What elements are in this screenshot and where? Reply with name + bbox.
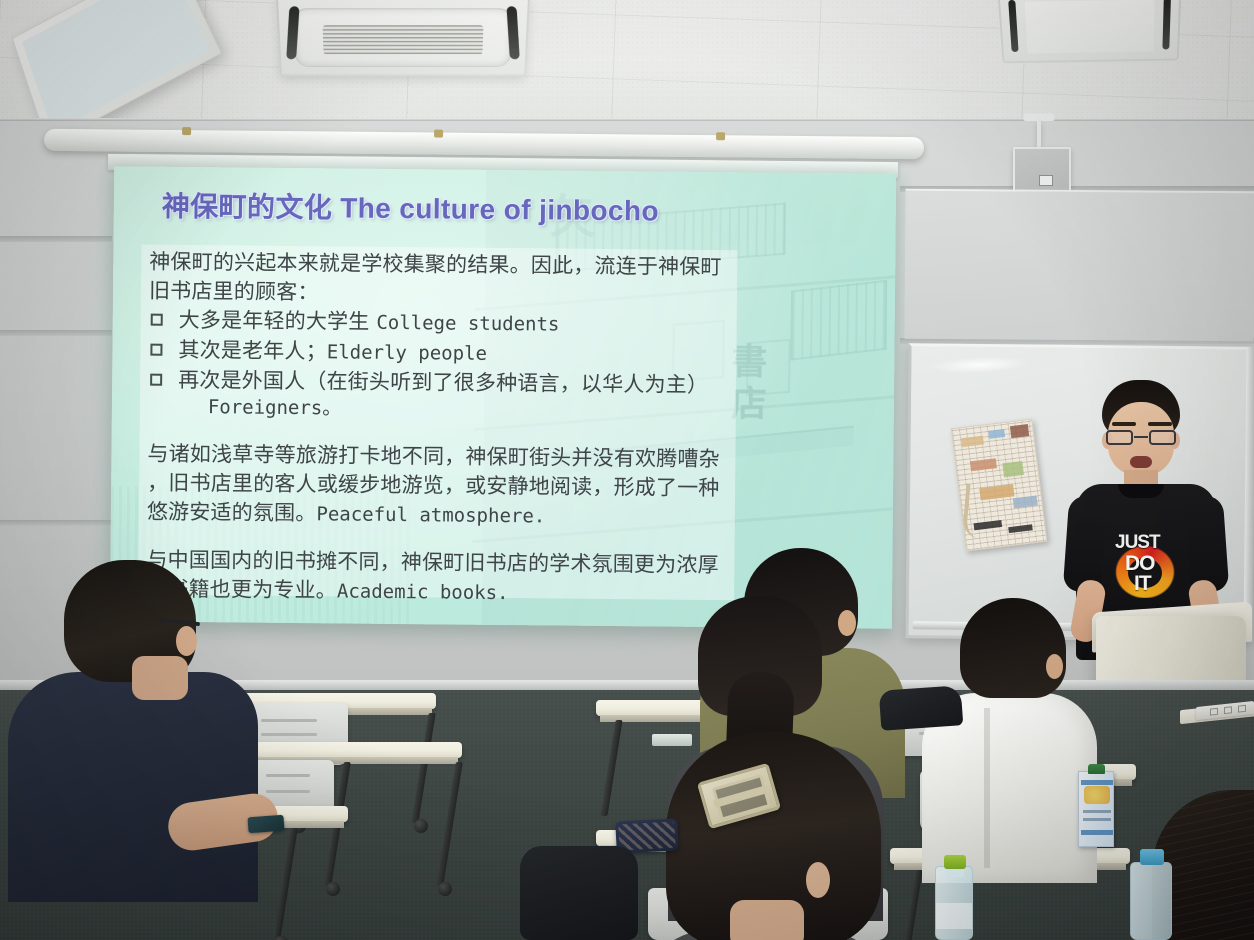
power-socket[interactable] — [1210, 708, 1218, 716]
slide-bullet-item: 其次是老年人；Elderly people — [148, 337, 748, 371]
person-hair — [960, 598, 1066, 698]
slide-para2-line-3-cn: 悠游安适的氛围。 — [147, 500, 317, 526]
presenter-mouth — [1130, 456, 1152, 468]
glasses-lens-left — [1106, 430, 1133, 445]
person-neck — [730, 900, 804, 940]
bullet-1-cn: 大多是年轻的大学生 — [179, 308, 370, 334]
ac-inner-panel — [293, 8, 514, 67]
presenter-sleeve-right — [1185, 495, 1230, 593]
glasses-lens-right — [1149, 430, 1176, 445]
water-bottle-green-cap — [935, 866, 973, 940]
bullet-3-en: Foreigners。 — [178, 394, 748, 426]
tshirt-text-just: JUST — [1115, 532, 1160, 554]
bullet-2-en: Elderly people — [327, 341, 487, 365]
roller-bracket-3 — [716, 132, 725, 140]
bottle-label — [936, 903, 972, 929]
carton-cap-green — [1088, 764, 1105, 774]
map-blob — [1002, 461, 1024, 477]
slide-para2-line-1: 与诸如浅草寺等旅游打卡地不同，神保町街头并没有欢腾嘈杂 — [147, 441, 747, 474]
ac-right-panel — [1025, 0, 1155, 54]
speaker-stem — [1037, 120, 1041, 148]
person-torso — [8, 672, 258, 902]
juice-carton — [1078, 771, 1114, 847]
slide-para2-line-3: 悠游安适的氛围。Peaceful atmosphere. — [147, 499, 747, 533]
presenter-eyebrow-right — [1148, 422, 1172, 426]
shirt-crease — [984, 708, 990, 868]
desk-caster — [326, 882, 340, 896]
slide-intro-line-2: 旧书店里的顾客： — [149, 278, 749, 311]
person-ear — [176, 626, 197, 656]
ac-grille — [323, 25, 484, 54]
bullet-2-cn: 其次是老年人； — [178, 338, 327, 363]
bullet-3-cn: 再次是外国人（在街头听到了很多种语言，以华人为主） — [178, 368, 708, 397]
bullet-1-en: College students — [376, 312, 559, 336]
bottle-cap-blue — [1140, 849, 1164, 865]
tshirt-logo: JUST DO IT — [1114, 532, 1176, 598]
carton-band — [1081, 780, 1113, 785]
slide-title: 神保町的文化The culture of jinbocho — [162, 185, 660, 230]
map-blob — [1010, 424, 1029, 438]
person-neck — [132, 656, 188, 700]
power-socket[interactable] — [1238, 705, 1246, 713]
slide-bullet-list: 大多是年轻的大学生 College students 其次是老年人；Elderl… — [148, 307, 749, 427]
presenter-collar — [1118, 484, 1164, 498]
carton-band — [1081, 830, 1113, 835]
slide-bullet-item: 再次是外国人（在街头听到了很多种语言，以华人为主） Foreigners。 — [148, 367, 748, 427]
power-socket[interactable] — [1224, 706, 1232, 714]
roller-bracket-1 — [182, 127, 191, 135]
square-bullet-icon — [151, 314, 163, 326]
ac-cassette-right-icon — [997, 0, 1181, 63]
person-ear — [1046, 654, 1063, 679]
ac-right-vane-left — [1008, 0, 1018, 52]
presenter-sleeve-left — [1063, 495, 1108, 593]
glasses-bridge — [1134, 436, 1148, 438]
ac-vane-right — [506, 6, 519, 59]
wall-panel-gap-left-2 — [0, 330, 112, 336]
tshirt-text-do: DO — [1125, 554, 1155, 574]
smartphone[interactable] — [247, 815, 284, 833]
speaker-grill — [1039, 175, 1053, 186]
carton-artwork — [1084, 786, 1110, 804]
person-white-shirt — [922, 598, 1122, 898]
slide-title-chinese: 神保町的文化 — [162, 190, 333, 225]
glasses-icon — [1106, 430, 1176, 445]
slide-para2-line-2: ，旧书店里的客人或缓步地游览，或安静地阅读，形成了一种 — [147, 470, 747, 503]
person-left-navy — [8, 560, 288, 940]
wall-panel-gap-left-1 — [0, 236, 112, 242]
slide-intro-line-1: 神保町的兴起本来就是学校集聚的结果。因此，流连于神保町 — [149, 249, 749, 282]
desk-caster — [438, 882, 452, 896]
presenter-eyebrow-left — [1112, 422, 1136, 426]
carton-text-line — [1083, 810, 1111, 813]
wall-panel-gap-left-3 — [0, 520, 112, 526]
water-bottle-blue-cap — [1130, 862, 1172, 940]
slide-bullet-item: 大多是年轻的大学生 College students — [149, 307, 749, 341]
whiteboard-glare — [929, 355, 1030, 375]
classroom-photo-scene: 矢 書店 神保町的文化The culture of jinbocho 神保町的兴… — [0, 0, 1254, 940]
person-ear — [806, 862, 830, 898]
bg-balcony-2 — [790, 280, 887, 361]
map-river — [962, 483, 997, 539]
backpack — [520, 846, 638, 940]
slide-para2-line-3-en: Peaceful atmosphere. — [316, 503, 545, 527]
tourist-map-poster — [951, 418, 1048, 551]
wall-seam-top — [0, 118, 1254, 121]
square-bullet-icon — [150, 344, 162, 356]
person-hairclip — [640, 732, 910, 940]
pouch-pattern — [618, 822, 675, 851]
ac-right-vane-right — [1162, 0, 1171, 49]
carton-text-line — [1083, 818, 1111, 821]
bottle-cap-green — [944, 855, 966, 869]
ac-cassette-icon — [276, 0, 530, 76]
slide-body: 神保町的兴起本来就是学校集聚的结果。因此，流连于神保町 旧书店里的顾客： 大多是… — [146, 249, 749, 612]
tshirt-text-it: IT — [1134, 574, 1151, 594]
wall-panel-upper-right — [904, 189, 1254, 341]
bag-on-desk — [879, 685, 964, 731]
slide-title-english: The culture of jinbocho — [340, 192, 659, 226]
slide-para3-line-2-en: Academic books. — [337, 580, 509, 604]
square-bullet-icon — [150, 374, 162, 386]
desk-caster — [414, 819, 428, 833]
roller-bracket-2 — [434, 130, 443, 138]
